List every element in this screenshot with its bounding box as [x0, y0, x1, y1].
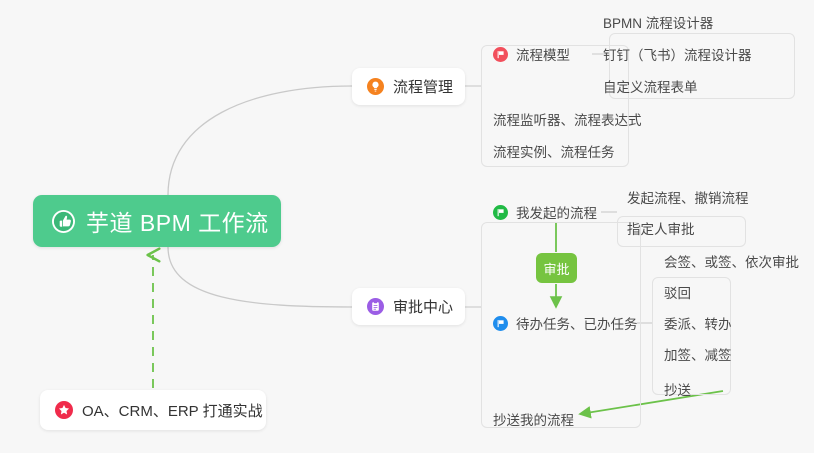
leaf-start-cancel-process[interactable]: 发起流程、撤销流程 [627, 186, 749, 208]
flag-icon [493, 47, 508, 62]
leaf-label: 我发起的流程 [516, 202, 597, 222]
leaf-label: 自定义流程表单 [603, 76, 698, 96]
leaf-label: 指定人审批 [627, 218, 695, 238]
leaf-delegate-transfer[interactable]: 委派、转办 [664, 312, 732, 334]
leaf-label: 会签、或签、依次审批 [664, 251, 799, 271]
mindmap-canvas: 芋道 BPM 工作流 流程管理 审批中心 [0, 0, 814, 453]
leaf-todo-done-tasks[interactable]: 待办任务、已办任务 [493, 312, 638, 334]
floating-node-label: OA、CRM、ERP 打通实战 [82, 400, 263, 421]
root-label: 芋道 BPM 工作流 [86, 204, 269, 238]
leaf-cc-my-process[interactable]: 抄送我的流程 [493, 408, 574, 430]
root-node[interactable]: 芋道 BPM 工作流 [33, 195, 281, 247]
branch-node-approval-center[interactable]: 审批中心 [352, 288, 465, 325]
floating-node-integration[interactable]: OA、CRM、ERP 打通实战 [40, 390, 266, 430]
thumbs-up-icon [52, 210, 75, 233]
leaf-label: 驳回 [664, 282, 691, 302]
leaf-dingtalk-designer[interactable]: 钉钉（飞书）流程设计器 [603, 43, 752, 65]
branch-label-process-management: 流程管理 [393, 76, 453, 97]
leaf-add-remove-sign[interactable]: 加签、减签 [664, 343, 732, 365]
leaf-countersign[interactable]: 会签、或签、依次审批 [664, 250, 799, 272]
leaf-my-initiated-process[interactable]: 我发起的流程 [493, 201, 597, 223]
leaf-process-listener[interactable]: 流程监听器、流程表达式 [493, 108, 642, 130]
leaf-label: 加签、减签 [664, 344, 732, 364]
leaf-label: 委派、转办 [664, 313, 732, 333]
leaf-label: BPMN 流程设计器 [603, 12, 713, 32]
leaf-process-model[interactable]: 流程模型 [493, 43, 570, 65]
leaf-custom-form[interactable]: 自定义流程表单 [603, 75, 698, 97]
leaf-reject[interactable]: 驳回 [664, 281, 691, 303]
leaf-carbon-copy[interactable]: 抄送 [664, 378, 691, 400]
edge-root-to-approval-center [168, 247, 352, 307]
edge-root-to-process-management [168, 86, 352, 195]
flag-icon [493, 205, 508, 220]
branch-node-process-management[interactable]: 流程管理 [352, 68, 465, 105]
leaf-label: 流程监听器、流程表达式 [493, 109, 642, 129]
leaf-label: 钉钉（飞书）流程设计器 [603, 44, 752, 64]
leaf-assignee-approval[interactable]: 指定人审批 [627, 217, 695, 239]
approval-badge[interactable]: 审批 [536, 253, 577, 283]
leaf-label: 流程实例、流程任务 [493, 141, 615, 161]
leaf-label: 抄送 [664, 379, 691, 399]
branch-label-approval-center: 审批中心 [393, 296, 453, 317]
star-icon [55, 401, 73, 419]
leaf-label: 待办任务、已办任务 [516, 313, 638, 333]
flag-icon [493, 316, 508, 331]
leaf-label: 抄送我的流程 [493, 409, 574, 429]
leaf-bpmn-designer[interactable]: BPMN 流程设计器 [603, 11, 713, 33]
leaf-label: 发起流程、撤销流程 [627, 187, 749, 207]
approval-badge-label: 审批 [543, 259, 569, 278]
leaf-process-instance[interactable]: 流程实例、流程任务 [493, 140, 615, 162]
leaf-label: 流程模型 [516, 44, 570, 64]
lightbulb-icon [367, 78, 384, 95]
clipboard-icon [367, 298, 384, 315]
